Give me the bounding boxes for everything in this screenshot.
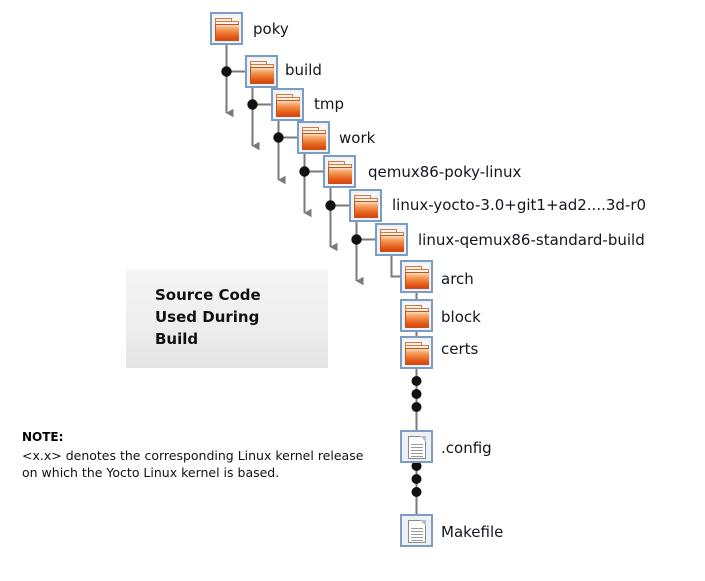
node-label: linux-yocto-3.0+git1+ad2....3d-r0 <box>392 198 646 213</box>
node-label: work <box>339 131 375 146</box>
node-label: linux-qemux86-standard-build <box>418 233 645 248</box>
folder-icon[interactable] <box>271 88 304 121</box>
folder-icon[interactable] <box>323 155 356 188</box>
node-label: Makefile <box>441 525 503 540</box>
folder-icon[interactable] <box>349 189 382 222</box>
folder-icon[interactable] <box>400 336 433 369</box>
node-label: block <box>441 310 481 325</box>
file-icon[interactable] <box>400 430 433 463</box>
node-label: certs <box>441 342 478 357</box>
folder-icon[interactable] <box>210 12 243 45</box>
node-label: tmp <box>314 97 344 112</box>
connector-lines <box>0 0 705 581</box>
diagram-canvas: poky build tmp work qemux86-poky-linux l… <box>0 0 705 581</box>
folder-icon[interactable] <box>245 55 278 88</box>
node-label: poky <box>253 22 289 37</box>
node-label: .config <box>441 441 492 456</box>
note-title: NOTE: <box>22 430 382 446</box>
source-code-callout: Source Code Used During Build <box>126 270 328 368</box>
folder-icon[interactable] <box>400 299 433 332</box>
node-label: arch <box>441 272 474 287</box>
folder-icon[interactable] <box>297 121 330 154</box>
folder-icon[interactable] <box>400 260 433 293</box>
callout-label: Source Code Used During Build <box>155 285 261 350</box>
note-body: <x.x> denotes the corresponding Linux ke… <box>22 447 382 482</box>
node-label: build <box>285 63 322 78</box>
node-label: qemux86-poky-linux <box>368 165 521 180</box>
folder-icon[interactable] <box>375 223 408 256</box>
file-icon[interactable] <box>400 514 433 547</box>
note-block: NOTE: <x.x> denotes the corresponding Li… <box>22 430 382 481</box>
